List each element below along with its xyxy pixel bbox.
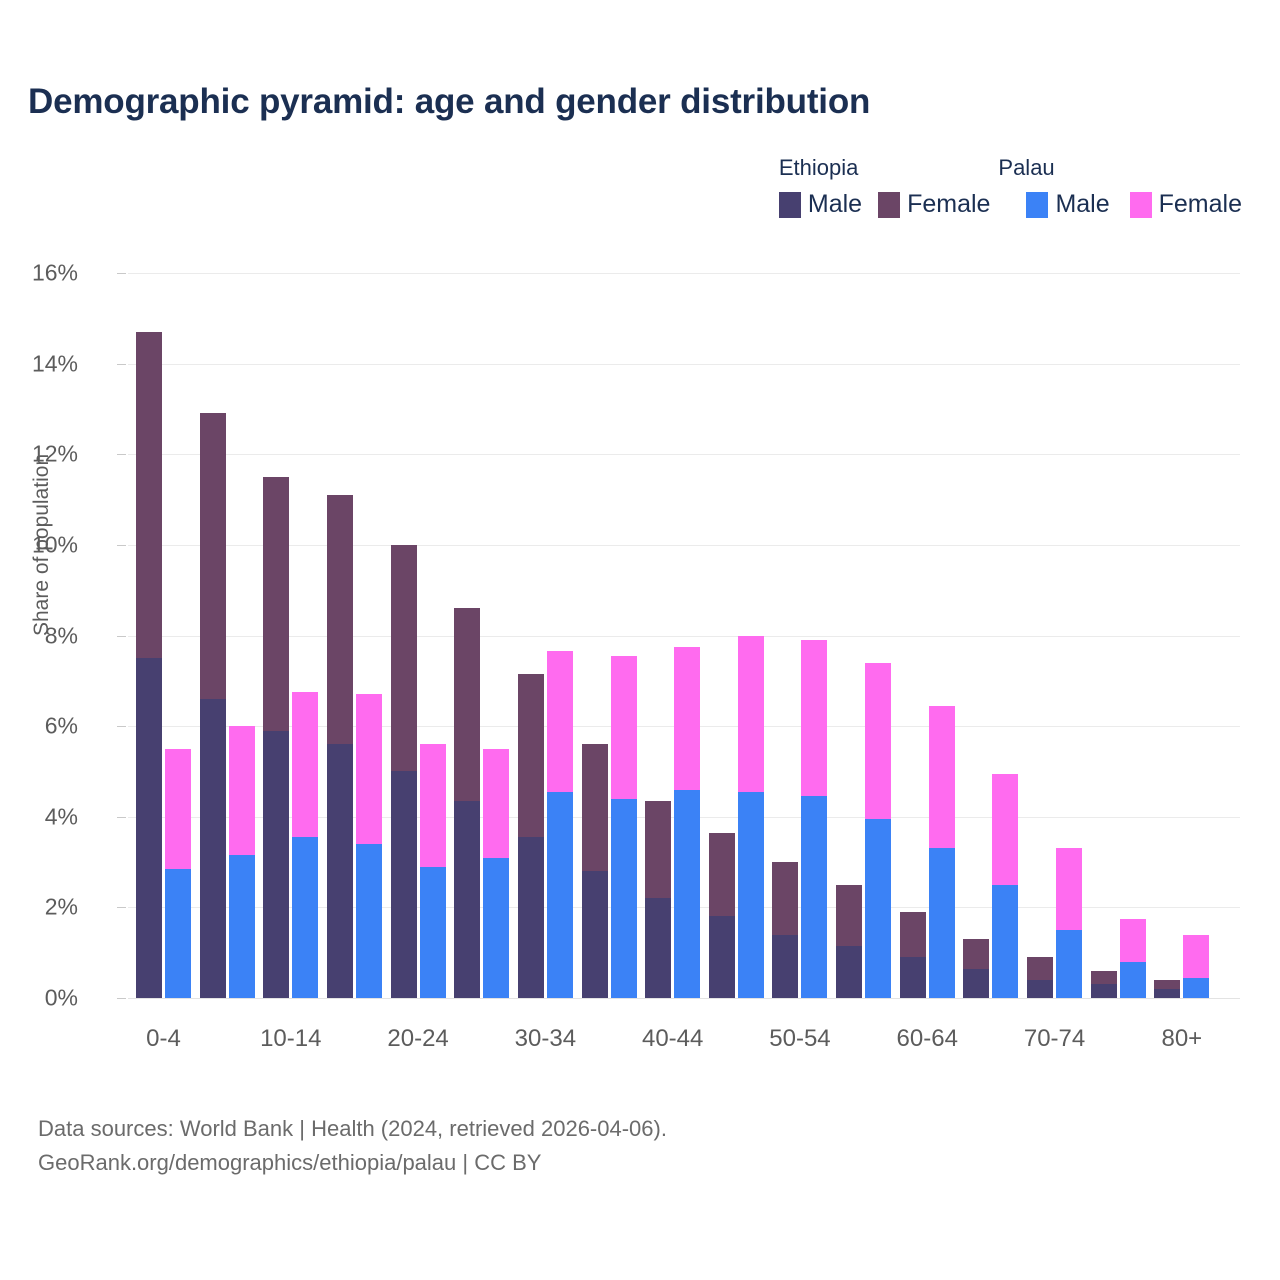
bar-segment-palau-female xyxy=(1183,935,1209,978)
bar-segment-palau-female xyxy=(929,706,955,849)
bar-segment-palau-male xyxy=(992,885,1018,998)
bar-group xyxy=(1027,273,1082,998)
bar-segment-palau-female xyxy=(738,636,764,792)
chart-container: Demographic pyramid: age and gender dist… xyxy=(0,0,1280,1280)
y-axis-tick-mark xyxy=(117,273,126,274)
bar-segment-palau-female xyxy=(674,647,700,790)
bar-segment-ethiopia-male xyxy=(518,837,544,998)
legend-label-palau-male: Male xyxy=(1055,190,1109,219)
bar-segment-palau-female xyxy=(165,749,191,869)
bar-group xyxy=(200,273,255,998)
legend-item-ethiopia-female[interactable]: Female xyxy=(878,190,990,219)
bar-segment-ethiopia-male xyxy=(1091,984,1117,998)
bar-group xyxy=(136,273,191,998)
bar-segment-palau-male xyxy=(1120,962,1146,998)
bar-segment-palau-female xyxy=(420,744,446,866)
bar-segment-palau-male xyxy=(865,819,891,998)
bar-segment-ethiopia-female xyxy=(136,332,162,658)
bar-segment-ethiopia-female xyxy=(327,495,353,744)
bar-segment-palau-male xyxy=(1183,978,1209,998)
y-axis-tick-mark xyxy=(117,998,126,999)
bar-segment-ethiopia-female xyxy=(709,833,735,917)
bar-segment-palau-male xyxy=(483,858,509,998)
bar-segment-ethiopia-male xyxy=(200,699,226,998)
legend-group-title-palau: Palau xyxy=(998,155,1054,181)
bar-group xyxy=(263,273,318,998)
x-axis-tick-label: 70-74 xyxy=(1024,1025,1085,1053)
bar-group xyxy=(391,273,446,998)
bar-segment-palau-male xyxy=(674,790,700,998)
legend-items: Male Female Male Female xyxy=(779,190,1242,219)
legend-item-palau-female[interactable]: Female xyxy=(1130,190,1242,219)
bar-segment-ethiopia-male xyxy=(263,731,289,998)
bar-segment-ethiopia-female xyxy=(1091,971,1117,985)
y-axis-tick-label: 8% xyxy=(0,622,78,649)
y-axis-tick-mark xyxy=(117,907,126,908)
x-axis-tick-label: 50-54 xyxy=(769,1025,830,1053)
y-axis-tick-label: 0% xyxy=(0,985,78,1012)
plot-area: 0%2%4%6%8%10%12%14%16% xyxy=(128,273,1240,998)
bar-segment-palau-female xyxy=(865,663,891,819)
y-axis-tick-mark xyxy=(117,817,126,818)
bar-segment-ethiopia-female xyxy=(1027,957,1053,980)
bar-segment-ethiopia-female xyxy=(900,912,926,957)
bar-segment-palau-male xyxy=(356,844,382,998)
footer-line-attribution: GeoRank.org/demographics/ethiopia/palau … xyxy=(38,1146,667,1180)
bar-segment-ethiopia-male xyxy=(454,801,480,998)
chart-legend: Ethiopia Palau Male Female Male Female xyxy=(779,155,1242,219)
bar-group xyxy=(327,273,382,998)
bar-group xyxy=(454,273,509,998)
y-axis-tick-label: 4% xyxy=(0,803,78,830)
bar-segment-palau-female xyxy=(483,749,509,858)
legend-swatch-ethiopia-female xyxy=(878,192,900,218)
gridline xyxy=(128,998,1240,999)
bar-segment-ethiopia-male xyxy=(645,898,671,998)
bar-group xyxy=(900,273,955,998)
y-axis-tick-mark xyxy=(117,454,126,455)
bar-segment-ethiopia-female xyxy=(391,545,417,772)
legend-group-title-ethiopia: Ethiopia xyxy=(779,155,859,181)
bar-segment-ethiopia-male xyxy=(136,658,162,998)
x-axis-tick-label: 10-14 xyxy=(260,1025,321,1053)
bar-segment-palau-female xyxy=(292,692,318,837)
x-axis-tick-label: 30-34 xyxy=(515,1025,576,1053)
bar-segment-ethiopia-male xyxy=(1154,989,1180,998)
bar-group xyxy=(582,273,637,998)
legend-item-ethiopia-male[interactable]: Male xyxy=(779,190,862,219)
bar-segment-ethiopia-male xyxy=(836,946,862,998)
bar-segment-palau-male xyxy=(420,867,446,998)
bar-segment-palau-female xyxy=(801,640,827,796)
legend-swatch-ethiopia-male xyxy=(779,192,801,218)
bar-segment-ethiopia-female xyxy=(963,939,989,968)
x-axis-tick-label: 40-44 xyxy=(642,1025,703,1053)
legend-item-palau-male[interactable]: Male xyxy=(1026,190,1109,219)
chart-title: Demographic pyramid: age and gender dist… xyxy=(28,82,870,122)
bar-group xyxy=(963,273,1018,998)
bar-segment-ethiopia-female xyxy=(454,608,480,801)
bar-segment-palau-female xyxy=(1120,919,1146,962)
bar-group xyxy=(772,273,827,998)
bar-segment-palau-male xyxy=(165,869,191,998)
y-axis-tick-label: 10% xyxy=(0,531,78,558)
legend-swatch-palau-female xyxy=(1130,192,1152,218)
legend-swatch-palau-male xyxy=(1026,192,1048,218)
bar-segment-palau-female xyxy=(992,774,1018,885)
bar-segment-palau-female xyxy=(1056,848,1082,930)
y-axis-tick-mark xyxy=(117,545,126,546)
bar-segment-palau-male xyxy=(611,799,637,998)
bar-segment-palau-male xyxy=(738,792,764,998)
bar-segment-palau-male xyxy=(292,837,318,998)
bar-segment-palau-male xyxy=(229,855,255,998)
bar-segment-palau-female xyxy=(611,656,637,799)
bar-segment-ethiopia-female xyxy=(263,477,289,731)
x-axis-tick-label: 20-24 xyxy=(387,1025,448,1053)
bar-segment-ethiopia-female xyxy=(582,744,608,871)
y-axis-tick-label: 2% xyxy=(0,894,78,921)
bar-segment-palau-female xyxy=(229,726,255,855)
bar-group xyxy=(1154,273,1209,998)
bar-segment-ethiopia-female xyxy=(518,674,544,837)
legend-group-titles: Ethiopia Palau xyxy=(779,155,1055,181)
bar-segment-palau-female xyxy=(547,651,573,791)
bar-segment-ethiopia-female xyxy=(836,885,862,946)
y-axis-tick-label: 16% xyxy=(0,260,78,287)
bar-segment-ethiopia-male xyxy=(772,935,798,998)
y-axis-tick-label: 6% xyxy=(0,713,78,740)
legend-label-ethiopia-female: Female xyxy=(907,190,990,219)
bar-segment-palau-male xyxy=(547,792,573,998)
bar-group xyxy=(836,273,891,998)
bar-group xyxy=(709,273,764,998)
bar-segment-ethiopia-male xyxy=(963,969,989,998)
x-axis-tick-label: 0-4 xyxy=(146,1025,181,1053)
legend-label-palau-female: Female xyxy=(1159,190,1242,219)
bar-segment-ethiopia-male xyxy=(327,744,353,998)
y-axis-tick-mark xyxy=(117,726,126,727)
x-axis-tick-label: 60-64 xyxy=(897,1025,958,1053)
bar-segment-palau-female xyxy=(356,694,382,844)
bar-segment-ethiopia-male xyxy=(900,957,926,998)
footer-line-sources: Data sources: World Bank | Health (2024,… xyxy=(38,1112,667,1146)
bar-segment-ethiopia-female xyxy=(772,862,798,935)
y-axis-tick-mark xyxy=(117,364,126,365)
bar-segment-ethiopia-female xyxy=(1154,980,1180,989)
bar-segment-palau-male xyxy=(929,848,955,998)
bar-segment-palau-male xyxy=(1056,930,1082,998)
chart-footer: Data sources: World Bank | Health (2024,… xyxy=(38,1112,667,1180)
bar-segment-ethiopia-female xyxy=(200,413,226,698)
bar-segment-ethiopia-female xyxy=(645,801,671,898)
bar-segment-palau-male xyxy=(801,796,827,998)
bar-group xyxy=(1091,273,1146,998)
y-axis-tick-label: 12% xyxy=(0,441,78,468)
bar-segment-ethiopia-male xyxy=(709,916,735,998)
bar-group xyxy=(645,273,700,998)
bar-segment-ethiopia-male xyxy=(391,771,417,998)
bar-segment-ethiopia-male xyxy=(1027,980,1053,998)
y-axis-tick-mark xyxy=(117,636,126,637)
y-axis-tick-label: 14% xyxy=(0,350,78,377)
bar-group xyxy=(518,273,573,998)
bar-segment-ethiopia-male xyxy=(582,871,608,998)
legend-label-ethiopia-male: Male xyxy=(808,190,862,219)
bars-layer xyxy=(128,273,1240,998)
x-axis-labels: 0-410-1420-2430-3440-4450-5460-6470-7480… xyxy=(128,1025,1240,1065)
x-axis-tick-label: 80+ xyxy=(1161,1025,1202,1053)
